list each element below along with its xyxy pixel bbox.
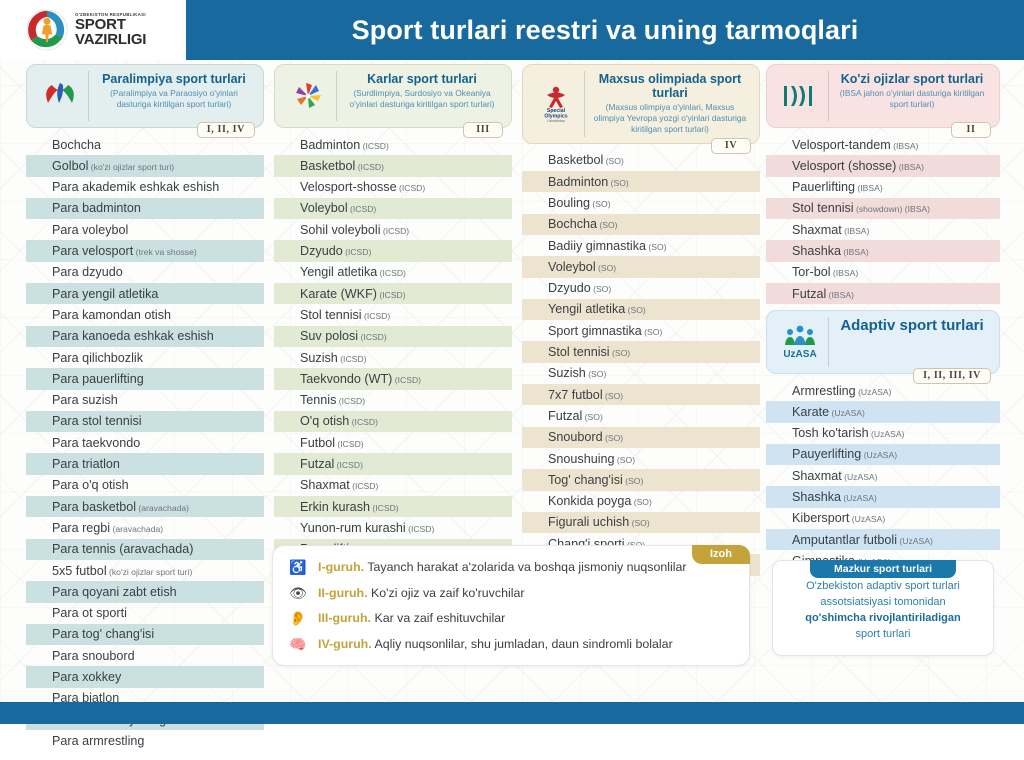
- sport-name: Shaxmat: [792, 469, 842, 483]
- sport-tag: (SO): [615, 455, 636, 465]
- legend-label: II-guruh.: [318, 586, 368, 600]
- list-item: Para badminton: [26, 198, 264, 219]
- list-item: Yunon-rum kurashi (ICSD): [274, 517, 512, 538]
- sport-tag: (ICSD): [362, 311, 391, 321]
- sport-name: Para ot sporti: [52, 606, 127, 620]
- list-item: Badiiy gimnastika (SO): [522, 235, 760, 256]
- sport-list-paralimpiya: BochchaGolbol (ko'zi ojizlar sport turi)…: [26, 122, 264, 760]
- list-item: Para ot sporti: [26, 603, 264, 624]
- card-header-karlar: Karlar sport turlari (Surdlimpiya, Surdo…: [274, 64, 512, 128]
- sport-name: Taekvondo (WT): [300, 372, 392, 386]
- sport-name: Snoushuing: [548, 452, 615, 466]
- sport-name: Pauerlifting: [792, 180, 855, 194]
- column-karlar: Karlar sport turlari (Surdlimpiya, Surdo…: [274, 64, 512, 611]
- sport-name: Futzal: [548, 409, 582, 423]
- sport-tag: (SO): [631, 497, 652, 507]
- sport-tag: (UzASA): [829, 408, 865, 418]
- list-item: 5x5 futbol (ko'zi ojizlar sport turi): [26, 560, 264, 581]
- list-item: Karate (WKF) (ICSD): [274, 283, 512, 304]
- list-item: Para voleybol: [26, 219, 264, 240]
- list-item: Badminton (SO): [522, 171, 760, 192]
- list-item: Kibersport (UzASA): [766, 508, 1000, 529]
- sport-name: Para taekvondo: [52, 436, 140, 450]
- sport-name: Sohil voleyboli: [300, 223, 381, 237]
- deaflympics-pinwheel-icon: [279, 71, 337, 121]
- sport-tag: (SO): [646, 242, 667, 252]
- list-item: Para kanoeda eshkak eshish: [26, 326, 264, 347]
- list-item: Para stol tennisi: [26, 411, 264, 432]
- sport-name: Sport gimnastika: [548, 324, 642, 338]
- list-item: Dzyudo (ICSD): [274, 240, 512, 261]
- sport-name: Stol tennisi: [548, 345, 610, 359]
- uzasa-logo-icon: UzASA: [771, 317, 829, 367]
- sport-name: Para o'q otish: [52, 478, 129, 492]
- note-ribbon-label: Mazkur sport turlari: [810, 560, 956, 578]
- sport-name: Para voleybol: [52, 223, 128, 237]
- sport-tag: (UzASA): [849, 514, 885, 524]
- title-bar: Sport turlari reestri va uning tarmoqlar…: [186, 0, 1024, 60]
- footer-bar: [0, 702, 1024, 724]
- sport-name: Pauyerlifting: [792, 447, 861, 461]
- special-olympics-uzbekistan-icon: Special Olympics Uzbekistan: [527, 71, 585, 137]
- sport-name: Basketbol: [300, 159, 355, 173]
- list-item: Para qilichbozlik: [26, 347, 264, 368]
- wheelchair-icon: ♿: [287, 559, 309, 577]
- legend-text: II-guruh. Ko'zi ojiz va zaif ko'ruvchila…: [318, 585, 525, 601]
- sport-name: Para velosport: [52, 244, 133, 258]
- ear-icon: 👂: [287, 610, 309, 628]
- card-header-maxsus-olimpiada: Special Olympics Uzbekistan Maxsus olimp…: [522, 64, 760, 144]
- sport-name: Armrestling: [792, 384, 856, 398]
- sport-name: Para regbi: [52, 521, 110, 535]
- list-item: Sohil voleyboli (ICSD): [274, 219, 512, 240]
- sport-name: Para armrestling: [52, 734, 144, 748]
- sport-name: Para snoubord: [52, 649, 135, 663]
- sport-name: Para dzyudo: [52, 265, 123, 279]
- column-kozi-ojizlar: Ko'zi ojizlar sport turlari (IBSA jahon …: [766, 64, 1000, 312]
- sport-name: Para kamondan otish: [52, 308, 171, 322]
- list-item: Para armrestling: [26, 730, 264, 751]
- legend-desc: Aqliy nuqsonlilar, shu jumladan, daun si…: [374, 637, 672, 651]
- list-item: Tog' chang'isi (SO): [522, 469, 760, 490]
- legend-label: IV-guruh.: [318, 637, 372, 651]
- sport-name: Para triatlon: [52, 457, 120, 471]
- column-maxsus-olimpiada: Special Olympics Uzbekistan Maxsus olimp…: [522, 64, 760, 605]
- sport-name: Tosh ko'tarish: [792, 426, 869, 440]
- sport-tag: (ICSD): [334, 460, 363, 470]
- sport-name: Kibersport: [792, 511, 849, 525]
- sport-ministry-logo-icon: [26, 9, 68, 51]
- sport-tag: (UzASA): [841, 493, 877, 503]
- note-line-1: O'zbekiston adaptiv sport turlari: [785, 579, 981, 595]
- sport-name: Futzal: [300, 457, 334, 471]
- ibsa-logo-icon: [771, 71, 829, 121]
- sport-list-adaptiv: Armrestling (UzASA)Karate (UzASA)Tosh ko…: [766, 368, 1000, 580]
- list-item: Para regbi (aravachada): [26, 517, 264, 538]
- sport-tag: (ICSD): [350, 481, 379, 491]
- sport-tag: (ICSD): [335, 439, 364, 449]
- sport-tag: (ICSD): [338, 354, 367, 364]
- sport-tag: (UzASA): [856, 387, 892, 397]
- list-item: Suzish (SO): [522, 363, 760, 384]
- sport-name: 7x7 futbol: [548, 388, 603, 402]
- sport-name: 5x5 futbol: [52, 564, 107, 578]
- sport-list-karlar: Badminton (ICSD)Basketbol (ICSD)Velospor…: [274, 122, 512, 611]
- list-item: Para velosport (trek va shosse): [26, 240, 264, 261]
- sport-name: Futzal: [792, 287, 826, 301]
- sport-name: Voleybol: [548, 260, 596, 274]
- legend-desc: Ko'zi ojiz va zaif ko'ruvchilar: [371, 586, 524, 600]
- logo-line-2: VAZIRLIGI: [75, 32, 146, 47]
- sport-tag: (aravachada): [110, 524, 163, 534]
- sport-name: Karate (WKF): [300, 287, 377, 301]
- sport-tag: (ICSD): [360, 141, 389, 151]
- list-item: Tennis (ICSD): [274, 390, 512, 411]
- ministry-logo-text: O'ZBEKISTON RESPUBLIKASI SPORT VAZIRLIGI: [75, 13, 146, 48]
- sport-name: Suv polosi: [300, 329, 358, 343]
- sport-name: Golbol: [52, 159, 88, 173]
- list-item: Snoushuing (SO): [522, 448, 760, 469]
- sport-name: Para qilichbozlik: [52, 351, 143, 365]
- card-header-text: Paralimpiya sport turlari (Paralimpiya v…: [89, 71, 259, 121]
- legend-desc: Tayanch harakat a'zolarida va boshqa jis…: [367, 560, 686, 574]
- legend-row: 🧠 IV-guruh. Aqliy nuqsonlilar, shu jumla…: [287, 636, 733, 654]
- legend-box: Izoh ♿ I-guruh. Tayanch harakat a'zolari…: [272, 545, 750, 666]
- sport-name: Yengil atletika: [300, 265, 377, 279]
- sport-tag: (showdown) (IBSA): [854, 204, 930, 214]
- card-title: Maxsus olimpiada sport turlari: [591, 72, 749, 100]
- list-item: Velosport (shosse) (IBSA): [766, 155, 1000, 176]
- infographic-page: O'ZBEKISTON RESPUBLIKASI SPORT VAZIRLIGI…: [0, 0, 1024, 724]
- list-item: Para suzish: [26, 390, 264, 411]
- sport-tag: (IBSA): [841, 247, 869, 257]
- sport-tag: (ICSD): [406, 524, 435, 534]
- list-item: Tosh ko'tarish (UzASA): [766, 423, 1000, 444]
- list-item: Para snoubord: [26, 645, 264, 666]
- legend-text: III-guruh. Kar va zaif eshituvchilar: [318, 610, 505, 626]
- list-item: Para pauerlifting: [26, 368, 264, 389]
- legend-row: 👁 II-guruh. Ko'zi ojiz va zaif ko'ruvchi…: [287, 585, 733, 603]
- sport-name: Para tennis (aravachada): [52, 542, 193, 556]
- list-item: Basketbol (ICSD): [274, 155, 512, 176]
- card-header-paralimpiya: Paralimpiya sport turlari (Paralimpiya v…: [26, 64, 264, 128]
- list-item: Para tennis (aravachada): [26, 539, 264, 560]
- card-header-adaptiv: UzASA Adaptiv sport turlari I, II, III, …: [766, 310, 1000, 374]
- sport-tag: (ICSD): [392, 375, 421, 385]
- sport-name: Para tog' chang'isi: [52, 627, 154, 641]
- sport-tag: (UzASA): [861, 450, 897, 460]
- list-item: Stol tennisi (showdown) (IBSA): [766, 198, 1000, 219]
- list-item: Para o'q otish: [26, 475, 264, 496]
- list-item: Golbol (ko'zi ojizlar sport turi): [26, 155, 264, 176]
- eye-crossed-icon: 👁: [287, 585, 309, 603]
- sport-name: Velosport (shosse): [792, 159, 896, 173]
- note-line-4: sport turlari: [785, 627, 981, 643]
- card-header-kozi-ojizlar: Ko'zi ojizlar sport turlari (IBSA jahon …: [766, 64, 1000, 128]
- sport-name: Shaxmat: [300, 478, 350, 492]
- sport-name: Yunon-rum kurashi: [300, 521, 406, 535]
- legend-text: IV-guruh. Aqliy nuqsonlilar, shu jumlada…: [318, 636, 673, 652]
- sport-tag: (ICSD): [355, 162, 384, 172]
- sport-name: Badminton: [548, 175, 608, 189]
- list-item: Amputantlar futboli (UzASA): [766, 529, 1000, 550]
- sport-tag: (IBSA): [842, 226, 870, 236]
- list-item: Para akademik eshkak eshish: [26, 177, 264, 198]
- sport-tag: (SO): [610, 348, 631, 358]
- list-item: Shaxmat (ICSD): [274, 475, 512, 496]
- sport-name: Suzish: [300, 351, 338, 365]
- sport-name: Para stol tennisi: [52, 414, 142, 428]
- list-item: Sport gimnastika (SO): [522, 320, 760, 341]
- sport-name: Tog' chang'isi: [548, 473, 623, 487]
- sport-name: Bochcha: [52, 138, 101, 152]
- list-item: Shashka (IBSA): [766, 240, 1000, 261]
- sport-name: Amputantlar futboli: [792, 533, 897, 547]
- list-item: 7x7 futbol (SO): [522, 384, 760, 405]
- card-subtitle: (IBSA jahon o'yinlari dasturiga kiritilg…: [835, 88, 989, 110]
- sport-name: Stol tennisi: [300, 308, 362, 322]
- list-item: Para taekvondo: [26, 432, 264, 453]
- column-paralimpiya: Paralimpiya sport turlari (Paralimpiya v…: [26, 64, 264, 760]
- sport-tag: (SO): [597, 220, 618, 230]
- list-item: Shaxmat (UzASA): [766, 465, 1000, 486]
- card-title: Adaptiv sport turlari: [835, 318, 989, 335]
- sport-name: Para badminton: [52, 201, 141, 215]
- ministry-logo-block: O'ZBEKISTON RESPUBLIKASI SPORT VAZIRLIGI: [0, 0, 186, 60]
- sport-tag: (IBSA): [831, 268, 859, 278]
- sport-tag: (ICSD): [370, 503, 399, 513]
- sport-name: Karate: [792, 405, 829, 419]
- svg-text:Uzbekistan: Uzbekistan: [547, 119, 565, 123]
- list-item: Yengil atletika (ICSD): [274, 262, 512, 283]
- sport-tag: (SO): [586, 369, 607, 379]
- sport-tag: (SO): [603, 433, 624, 443]
- list-item: Para yengil atletika: [26, 283, 264, 304]
- list-item: Velosport-shosse (ICSD): [274, 177, 512, 198]
- logo-line-1: SPORT: [75, 17, 146, 32]
- group-badge: IV: [711, 138, 751, 154]
- sport-name: Shaxmat: [792, 223, 842, 237]
- sport-name: Para akademik eshkak eshish: [52, 180, 219, 194]
- list-item: Futzal (IBSA): [766, 283, 1000, 304]
- sport-name: Para kanoeda eshkak eshish: [52, 329, 214, 343]
- sport-name: Bouling: [548, 196, 590, 210]
- list-item: Stol tennisi (ICSD): [274, 304, 512, 325]
- sport-name: Tennis: [300, 393, 336, 407]
- sport-name: Shashka: [792, 490, 841, 504]
- sport-name: Velosport-tandem: [792, 138, 891, 152]
- sport-name: Basketbol: [548, 153, 603, 167]
- card-header-text: Adaptiv sport turlari: [829, 317, 995, 367]
- list-item: Pauyerlifting (UzASA): [766, 444, 1000, 465]
- legend-row: ♿ I-guruh. Tayanch harakat a'zolarida va…: [287, 559, 733, 577]
- sport-tag: (ICSD): [397, 183, 426, 193]
- sport-name: Konkida poyga: [548, 494, 631, 508]
- list-item: Tor-bol (IBSA): [766, 262, 1000, 283]
- sport-tag: (IBSA): [891, 141, 919, 151]
- card-subtitle: (Surdlimpiya, Surdosiyo va Okeaniya o'yi…: [343, 88, 501, 110]
- sport-tag: (UzASA): [842, 472, 878, 482]
- list-item: Suv polosi (ICSD): [274, 326, 512, 347]
- sport-name: Badiiy gimnastika: [548, 239, 646, 253]
- list-item: O'q otish (ICSD): [274, 411, 512, 432]
- sport-name: Velosport-shosse: [300, 180, 397, 194]
- group-badge: I, II, III, IV: [913, 368, 991, 384]
- list-item: Bouling (SO): [522, 192, 760, 213]
- list-item: Karate (UzASA): [766, 401, 1000, 422]
- sport-name: Erkin kurash: [300, 500, 370, 514]
- sport-tag: (aravachada): [136, 503, 189, 513]
- legend-label: III-guruh.: [318, 611, 371, 625]
- sport-name: Dzyudo: [300, 244, 343, 258]
- sport-name: Para basketbol: [52, 500, 136, 514]
- sport-name: Futbol: [300, 436, 335, 450]
- list-item: Voleybol (ICSD): [274, 198, 512, 219]
- list-item: Figurali uchish (SO): [522, 512, 760, 533]
- list-item: Futzal (ICSD): [274, 453, 512, 474]
- list-item: Stol tennisi (SO): [522, 341, 760, 362]
- sport-tag: (SO): [596, 263, 617, 273]
- sport-name: Suzish: [548, 366, 586, 380]
- list-item: Taekvondo (WT) (ICSD): [274, 368, 512, 389]
- sport-tag: (SO): [590, 199, 611, 209]
- list-item: Para basketbol (aravachada): [26, 496, 264, 517]
- card-subtitle: (Paralimpiya va Paraosiyo o'yinlari dast…: [95, 88, 253, 110]
- brain-icon: 🧠: [287, 636, 309, 654]
- page-title: Sport turlari reestri va uning tarmoqlar…: [352, 15, 859, 46]
- sport-tag: (IBSA): [855, 183, 883, 193]
- sport-tag: (SO): [629, 518, 650, 528]
- sport-tag: (ICSD): [358, 332, 387, 342]
- list-item: Para qoyani zabt etish: [26, 581, 264, 602]
- legend-text: I-guruh. Tayanch harakat a'zolarida va b…: [318, 559, 687, 575]
- sport-tag: (IBSA): [826, 290, 854, 300]
- sport-tag: (SO): [591, 284, 612, 294]
- sport-tag: (UzASA): [897, 536, 933, 546]
- list-item: Futbol (ICSD): [274, 432, 512, 453]
- sport-tag: (ICSD): [343, 247, 372, 257]
- sport-name: Snoubord: [548, 430, 603, 444]
- list-item: Bochcha (SO): [522, 214, 760, 235]
- list-item: Dzyudo (SO): [522, 278, 760, 299]
- list-item: Erkin kurash (ICSD): [274, 496, 512, 517]
- sport-tag: (ko'zi ojizlar sport turi): [107, 567, 193, 577]
- list-item: Suzish (ICSD): [274, 347, 512, 368]
- sport-tag: (ICSD): [336, 396, 365, 406]
- list-item: Shashka (UzASA): [766, 486, 1000, 507]
- card-title: Ko'zi ojizlar sport turlari: [835, 72, 989, 86]
- sport-tag: (SO): [603, 156, 624, 166]
- sport-name: Figurali uchish: [548, 515, 629, 529]
- sport-tag: (ICSD): [377, 268, 406, 278]
- list-item: Voleybol (SO): [522, 256, 760, 277]
- sport-name: Yengil atletika: [548, 302, 625, 316]
- legend-desc: Kar va zaif eshituvchilar: [374, 611, 505, 625]
- sport-tag: (ICSD): [348, 204, 377, 214]
- legend-label: I-guruh.: [318, 560, 364, 574]
- sport-tag: (UzASA): [869, 429, 905, 439]
- legend-row: 👂 III-guruh. Kar va zaif eshituvchilar: [287, 610, 733, 628]
- sport-tag: (SO): [603, 391, 624, 401]
- list-item: Yengil atletika (SO): [522, 299, 760, 320]
- sport-tag: (ICSD): [377, 290, 406, 300]
- sport-tag: (IBSA): [896, 162, 924, 172]
- list-item: Futzal (SO): [522, 405, 760, 426]
- card-title: Paralimpiya sport turlari: [95, 72, 253, 86]
- note-line-2: assotsiatsiyasi tomonidan: [785, 595, 981, 611]
- sport-list-kozi-ojizlar: Velosport-tandem (IBSA)Velosport (shosse…: [766, 122, 1000, 312]
- list-item: Para triatlon: [26, 453, 264, 474]
- sport-tag: (SO): [582, 412, 603, 422]
- page-header: O'ZBEKISTON RESPUBLIKASI SPORT VAZIRLIGI…: [0, 0, 1024, 60]
- column-adaptiv: UzASA Adaptiv sport turlari I, II, III, …: [766, 310, 1000, 580]
- sport-name: Para qoyani zabt etish: [52, 585, 177, 599]
- agitos-paralympic-icon: [31, 71, 89, 121]
- sport-name: Badminton: [300, 138, 360, 152]
- note-line-3: qo'shimcha rivojlantiriladigan: [785, 611, 981, 627]
- group-badge: II: [951, 122, 991, 138]
- sport-name: Para pauerlifting: [52, 372, 144, 386]
- card-header-text: Maxsus olimpiada sport turlari (Maxsus o…: [585, 71, 755, 137]
- list-item: Para dzyudo: [26, 262, 264, 283]
- sport-name: Para yengil atletika: [52, 287, 158, 301]
- sport-name: Tor-bol: [792, 265, 831, 279]
- sport-tag: (trek va shosse): [133, 247, 197, 257]
- list-item: Shaxmat (IBSA): [766, 219, 1000, 240]
- sport-name: Dzyudo: [548, 281, 591, 295]
- sport-tag: (SO): [623, 476, 644, 486]
- sport-tag: (ICSD): [349, 417, 378, 427]
- sport-list-maxsus-olimpiada: Basketbol (SO)Badminton (SO)Bouling (SO)…: [522, 138, 760, 605]
- list-item: Para xokkey: [26, 666, 264, 687]
- list-item: Para tog' chang'isi: [26, 624, 264, 645]
- card-title: Karlar sport turlari: [343, 72, 501, 86]
- list-item: Konkida poyga (SO): [522, 491, 760, 512]
- svg-text:UzASA: UzASA: [783, 349, 816, 360]
- sport-name: Shashka: [792, 244, 841, 258]
- sport-tag: (SO): [625, 305, 646, 315]
- list-item: Snoubord (SO): [522, 427, 760, 448]
- card-header-text: Karlar sport turlari (Surdlimpiya, Surdo…: [337, 71, 507, 121]
- sport-name: Para suzish: [52, 393, 118, 407]
- sport-tag: (ko'zi ojizlar sport turi): [88, 162, 174, 172]
- sport-name: Voleybol: [300, 201, 348, 215]
- sport-tag: (SO): [642, 327, 663, 337]
- mazkur-note-box: Mazkur sport turlari O'zbekiston adaptiv…: [772, 560, 994, 656]
- sport-name: O'q otish: [300, 414, 349, 428]
- sport-tag: (SO): [608, 178, 629, 188]
- sport-tag: (ICSD): [381, 226, 410, 236]
- sport-name: Bochcha: [548, 217, 597, 231]
- izoh-tab-label: Izoh: [692, 545, 750, 564]
- sport-name: Para xokkey: [52, 670, 121, 684]
- group-badge: I, II, IV: [197, 122, 255, 138]
- sport-name: Stol tennisi: [792, 201, 854, 215]
- group-badge: III: [463, 122, 503, 138]
- card-subtitle: (Maxsus olimpiya o'yinlari, Maxsus olimp…: [591, 102, 749, 135]
- list-item: Para kamondan otish: [26, 304, 264, 325]
- card-header-text: Ko'zi ojizlar sport turlari (IBSA jahon …: [829, 71, 995, 121]
- list-item: Pauerlifting (IBSA): [766, 177, 1000, 198]
